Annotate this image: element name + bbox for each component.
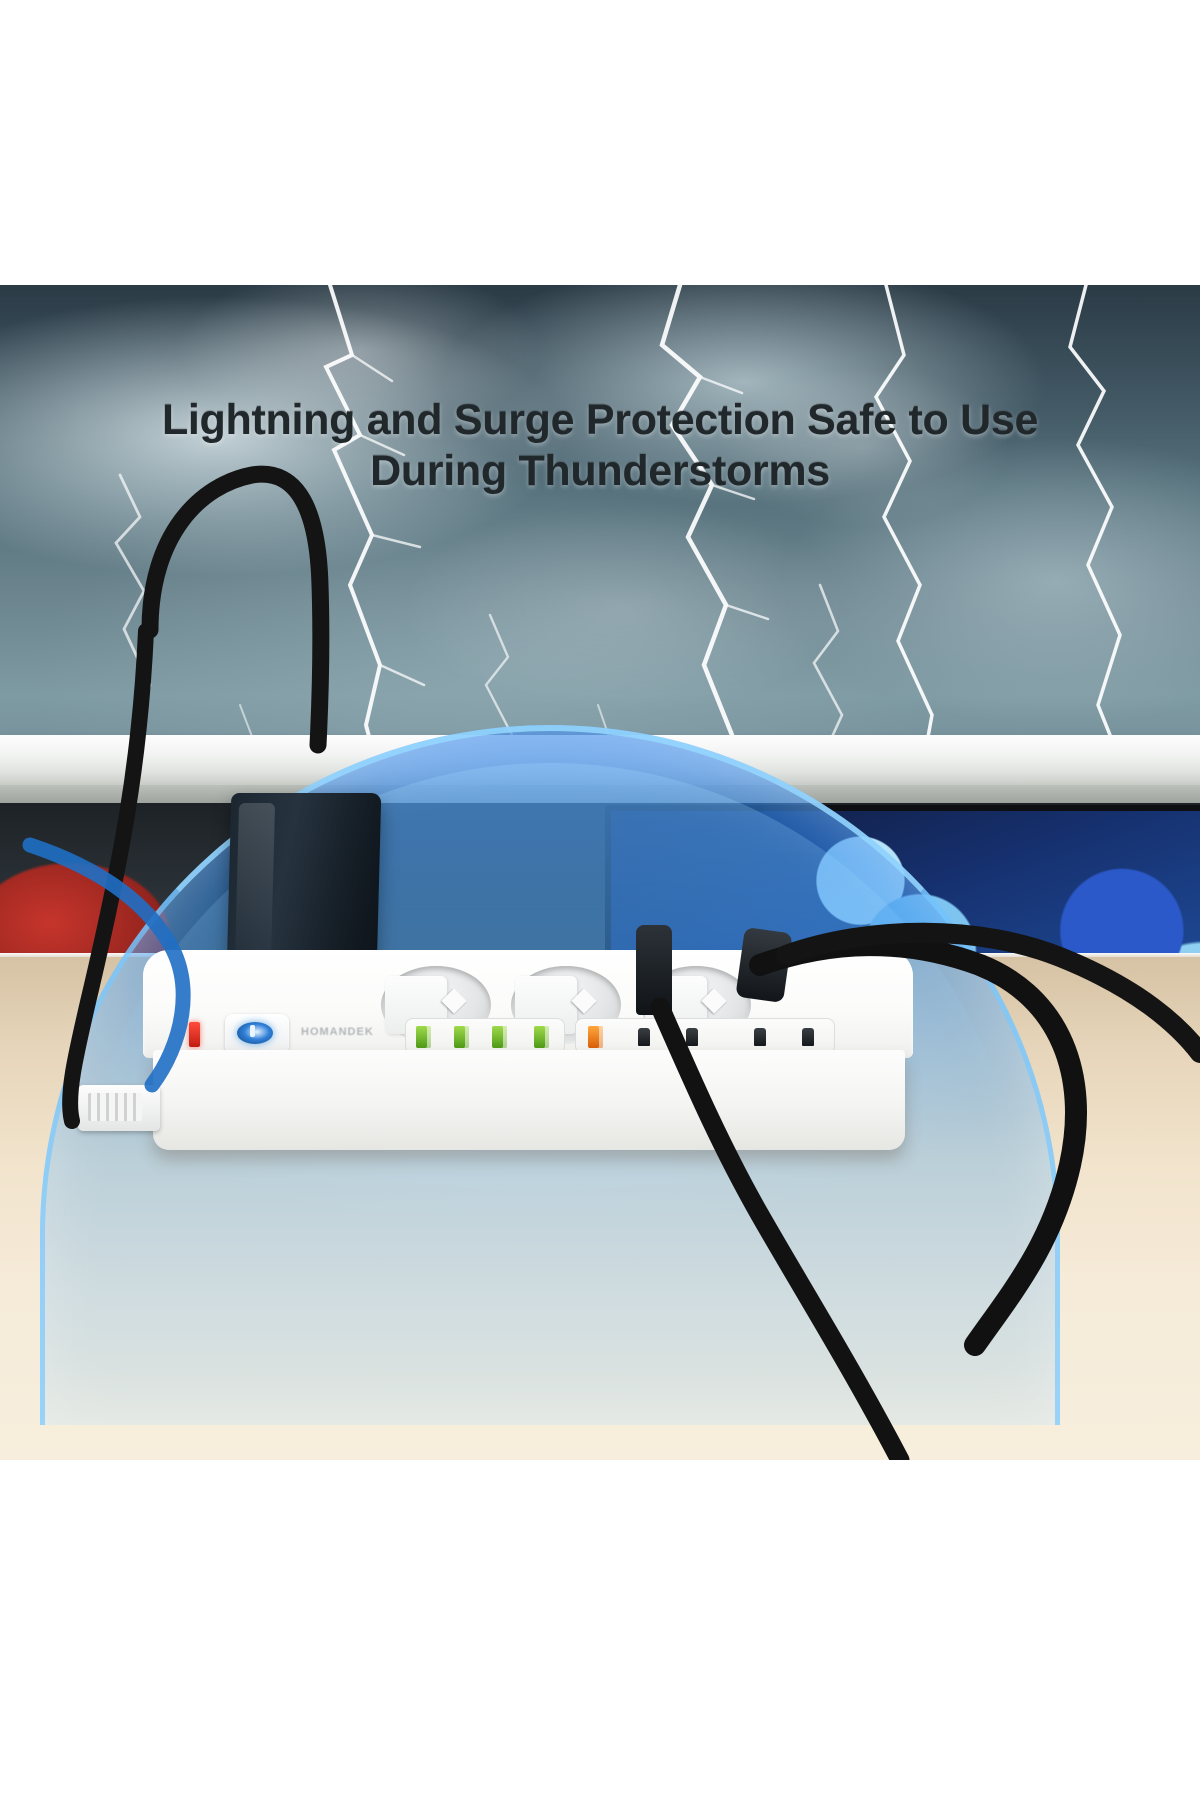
brand-logo-text: HOMANDEK	[301, 1026, 397, 1042]
product-photo: Lightning and Surge Protection Safe to U…	[0, 285, 1200, 1460]
black-ac-plug-secondary	[735, 927, 792, 1003]
power-switch[interactable]	[225, 1014, 289, 1054]
power-strip-front-face	[153, 1050, 905, 1150]
usb-a-port-2[interactable]	[454, 1026, 469, 1048]
usb-group-left	[405, 1018, 565, 1054]
usb-a-port-1[interactable]	[416, 1026, 431, 1048]
power-switch-led-icon	[237, 1022, 273, 1044]
status-led	[189, 1022, 200, 1047]
usb-c-port-3[interactable]	[754, 1028, 766, 1046]
power-strip-top-face: HOMANDEK	[143, 950, 913, 1058]
usb-a-port-3[interactable]	[492, 1026, 507, 1048]
usb-c-port-4[interactable]	[802, 1028, 814, 1046]
page-root: Lightning and Surge Protection Safe to U…	[0, 0, 1200, 1800]
usb-c-port-2[interactable]	[686, 1028, 698, 1046]
headline-line-1: Lightning and Surge Protection Safe to U…	[0, 395, 1200, 446]
headline-line-2: During Thunderstorms	[0, 446, 1200, 497]
usb-group-right	[575, 1018, 835, 1054]
headline-text: Lightning and Surge Protection Safe to U…	[0, 395, 1200, 496]
ethernet-plug	[78, 1085, 160, 1131]
black-ac-plug	[636, 925, 672, 1015]
usb-a-port-4[interactable]	[534, 1026, 549, 1048]
usb-a-quickcharge-port[interactable]	[588, 1026, 603, 1048]
surge-protector-power-strip: HOMANDEK	[143, 950, 913, 1155]
usb-c-port-1[interactable]	[638, 1028, 650, 1046]
